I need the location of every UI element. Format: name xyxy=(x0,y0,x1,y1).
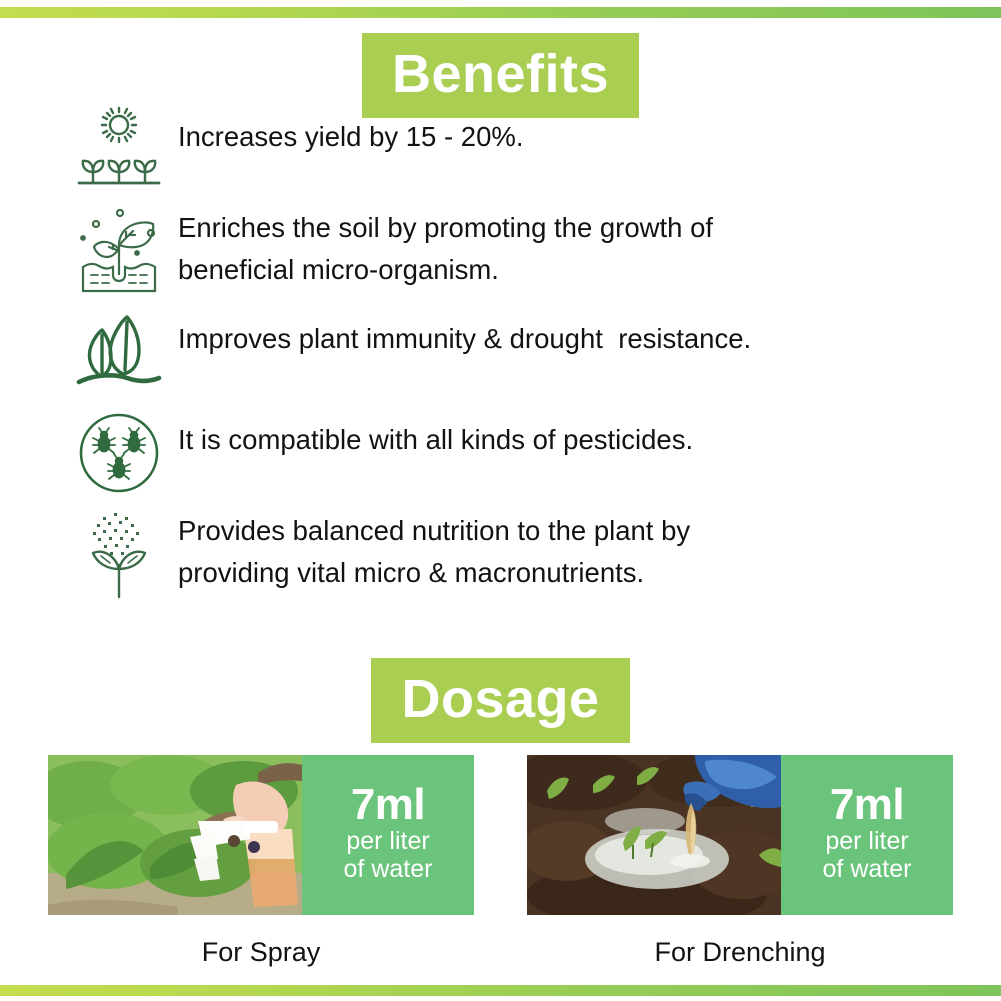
dosage-amount: 7ml xyxy=(830,783,904,828)
plant-in-soil-icon xyxy=(60,205,178,297)
two-leaves-icon xyxy=(60,306,178,398)
benefit-item: Provides balanced nutrition to the plant… xyxy=(60,508,960,600)
benefit-item: It is compatible with all kinds of pesti… xyxy=(60,407,960,499)
bottom-accent-bar xyxy=(0,985,1001,996)
benefit-text: Improves plant immunity & drought resist… xyxy=(178,306,960,360)
dosage-per-line-2: of water xyxy=(823,855,912,883)
insects-in-circle-icon xyxy=(60,407,178,499)
benefit-text: Increases yield by 15 - 20%. xyxy=(178,104,960,158)
dosage-panel: 7ml per liter of water xyxy=(781,755,953,915)
dosage-panel: 7ml per liter of water xyxy=(302,755,474,915)
sun-over-sprouts-icon xyxy=(60,104,178,196)
benefit-text: It is compatible with all kinds of pesti… xyxy=(178,407,960,461)
dosage-card-drenching: 7ml per liter of water For Drenching xyxy=(527,755,953,968)
benefits-list: Increases yield by 15 - 20%. xyxy=(60,104,960,609)
card-body: 7ml per liter of water xyxy=(48,755,474,915)
dosage-card-spray: 7ml per liter of water For Spray xyxy=(48,755,474,968)
dosage-per-line-1: per liter xyxy=(346,827,429,855)
dosage-per-line-2: of water xyxy=(344,855,433,883)
dosage-amount: 7ml xyxy=(351,783,425,828)
benefit-item: Enriches the soil by promoting the growt… xyxy=(60,205,960,297)
sprout-with-nutrients-icon xyxy=(60,508,178,600)
dosage-caption: For Spray xyxy=(48,937,474,968)
dosage-cards: 7ml per liter of water For Spray xyxy=(48,755,953,968)
hand-spraying-plants-photo xyxy=(48,755,302,915)
benefit-text: Enriches the soil by promoting the growt… xyxy=(178,205,960,291)
top-accent-bar xyxy=(0,7,1001,18)
dosage-heading-wrap: Dosage xyxy=(0,658,1001,743)
watering-can-drenching-soil-photo xyxy=(527,755,781,915)
benefit-item: Improves plant immunity & drought resist… xyxy=(60,306,960,398)
benefit-text: Provides balanced nutrition to the plant… xyxy=(178,508,960,594)
dosage-caption: For Drenching xyxy=(527,937,953,968)
dosage-per-line-1: per liter xyxy=(825,827,908,855)
dosage-heading-badge: Dosage xyxy=(371,658,629,743)
benefit-item: Increases yield by 15 - 20%. xyxy=(60,104,960,196)
card-body: 7ml per liter of water xyxy=(527,755,953,915)
